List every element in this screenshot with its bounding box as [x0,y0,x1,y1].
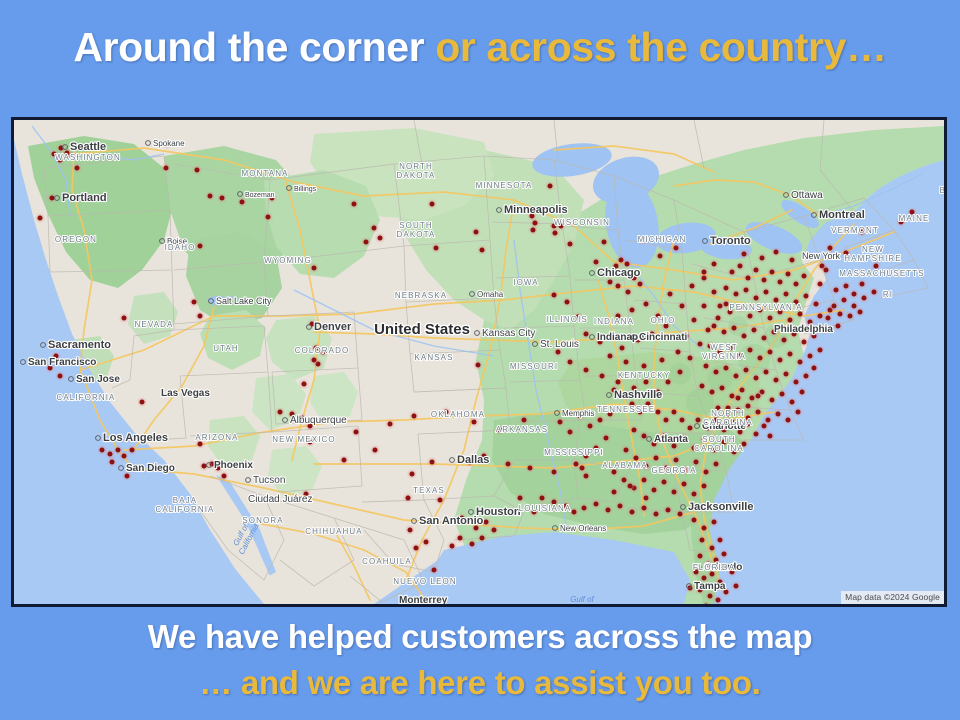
city-dot-icon [146,141,151,146]
city-dot-icon [553,526,558,531]
city-dot-icon [555,411,560,416]
state-label: CHIHUAHUA [305,527,362,536]
city-label: Nashville [614,389,662,401]
state-label: IDAHO [165,243,196,252]
city-label: Tucson [253,475,285,486]
water-label: Gulf of [570,595,594,604]
state-label: RI [883,290,893,299]
map-labels: SeattleSpokanePortlandBozemanBillingsBoi… [14,120,944,604]
headline-part-2: or across the country… [435,24,886,70]
city-dot-icon [207,463,212,468]
city-dot-icon [533,342,538,347]
state-label: TENNESSEE [597,405,655,414]
city-label: Kansas City [482,328,535,339]
state-label: WYOMING [264,256,312,265]
city-label: Atlanta [654,434,688,445]
city-label: Seattle [70,141,106,153]
city-dot-icon [784,193,789,198]
city-dot-icon [812,213,817,218]
state-label: OREGON [55,235,97,244]
city-label: New York [802,251,841,261]
city-dot-icon [470,292,475,297]
city-dot-icon [21,360,26,365]
city-label: Los Angeles [103,432,168,444]
footer-text: We have helped customers across the map … [0,614,960,706]
city-dot-icon [703,239,708,244]
city-label: Montreal [819,209,865,221]
city-dot-icon [475,331,480,336]
state-label: LOUISIANA [519,504,572,513]
state-label: NEWHAMPSHIRE [844,245,901,263]
city-label: Monterrey [399,595,448,604]
city-dot-icon [450,458,455,463]
city-dot-icon [69,377,74,382]
city-dot-icon [695,424,700,429]
city-label: Spokane [153,139,185,148]
map-container[interactable]: SeattleSpokanePortlandBozemanBillingsBoi… [11,117,947,607]
city-dot-icon [209,299,214,304]
state-label: SOUTHCAROLINA [694,435,744,453]
state-label: INDIANA [594,317,634,326]
city-label: Albuquerque [290,415,347,426]
city-label: Bozeman [245,192,275,199]
city-label: St. Louis [540,339,579,350]
country-label: United States [374,321,470,338]
city-dot-icon [687,584,692,589]
city-label: San Jose [76,374,120,385]
state-label: NEVADA [135,320,174,329]
city-label: Chicago [597,267,641,279]
state-label: BRI [940,186,944,195]
state-label: KENTUCKY [618,371,670,380]
footer-line-1: We have helped customers across the map [0,614,960,660]
city-label: Dallas [457,454,489,466]
city-label: San Antonio [419,515,484,527]
city-label: Las Vegas [161,388,210,399]
city-label: Ottawa [791,190,823,201]
state-label: MAINE [899,214,930,223]
city-label: Sacramento [48,339,111,351]
state-label: MONTANA [241,169,288,178]
city-dot-icon [41,343,46,348]
city-dot-icon [681,505,686,510]
city-dot-icon [96,436,101,441]
city-dot-icon [55,196,60,201]
state-label: SOUTHDAKOTA [397,221,436,239]
state-label: PENNSYLVANIA [729,303,802,312]
city-label: Philadelphia [774,324,833,335]
state-label: ALABAMA [602,461,648,470]
state-label: COLORADO [295,346,350,355]
city-dot-icon [63,145,68,150]
state-label: KANSAS [414,353,453,362]
headline-part-1: Around the corner [73,24,435,70]
state-label: IOWA [513,278,538,287]
state-label: ARKANSAS [496,425,548,434]
city-dot-icon [307,325,312,330]
page-title: Around the corner or across the country… [0,24,960,71]
footer-line-2: … and we are here to assist you too. [0,660,960,706]
city-label: San Diego [126,463,175,474]
city-label: San Francisco [28,357,96,368]
state-label: NORTHDAKOTA [397,162,436,180]
city-dot-icon [287,186,292,191]
map-attribution: Map data ©2024 Google [841,591,944,604]
state-label: MASSACHUSETTS [839,269,924,278]
city-label: Minneapolis [504,204,568,216]
city-dot-icon [590,271,595,276]
state-label: UTAH [213,344,239,353]
state-label: OKLAHOMA [431,410,485,419]
state-label: NEBRASKA [395,291,447,300]
state-label: WESTVIRGINIA [702,343,746,361]
state-label: MICHIGAN [638,235,687,244]
city-label: Portland [62,192,107,204]
state-label: OHIO [651,316,676,325]
city-dot-icon [119,466,124,471]
state-label: NORTHCAROLINA [703,409,753,427]
city-label: Memphis [562,409,594,418]
state-label: CALIFORNIA [56,393,115,402]
city-dot-icon [590,335,595,340]
state-label: NEW MEXICO [272,435,335,444]
state-label: WASHINGTON [55,153,121,162]
state-label: MISSOURI [510,362,558,371]
state-label: WISCONSIN [554,218,610,227]
city-label: Tampa [694,581,726,592]
slide-root: Around the corner or across the country… [0,0,960,720]
city-dot-icon [238,192,243,197]
city-label: Ciudad Juárez [248,494,312,505]
state-label: ARIZONA [195,433,238,442]
state-label: COAHUILA [362,557,412,566]
city-label: New Orleans [560,524,606,533]
city-dot-icon [497,208,502,213]
city-label: Cincinnati [639,332,688,343]
state-label: ILLINOIS [546,315,588,324]
state-label: MISSISSIPPI [544,448,604,457]
state-label: FLORIDA [693,563,735,572]
state-label: TEXAS [413,486,445,495]
city-dot-icon [607,393,612,398]
city-dot-icon [647,437,652,442]
state-label: VERMONT [831,226,879,235]
city-label: Toronto [710,235,751,247]
city-label: Omaha [477,290,504,299]
city-label: Phoenix [214,460,253,471]
city-dot-icon [469,510,474,515]
city-label: Salt Lake City [216,296,272,306]
city-dot-icon [283,418,288,423]
state-label: SONORA [242,516,283,525]
state-label: GEORGIA [651,466,696,475]
city-label: Jacksonville [688,501,753,513]
state-label: MINNESOTA [476,181,533,190]
city-label: Denver [314,321,352,333]
city-dot-icon [412,519,417,524]
state-label: NUEVO LEON [393,577,456,586]
city-dot-icon [246,478,251,483]
city-label: Billings [294,186,317,193]
state-label: BAJACALIFORNIA [155,496,214,514]
